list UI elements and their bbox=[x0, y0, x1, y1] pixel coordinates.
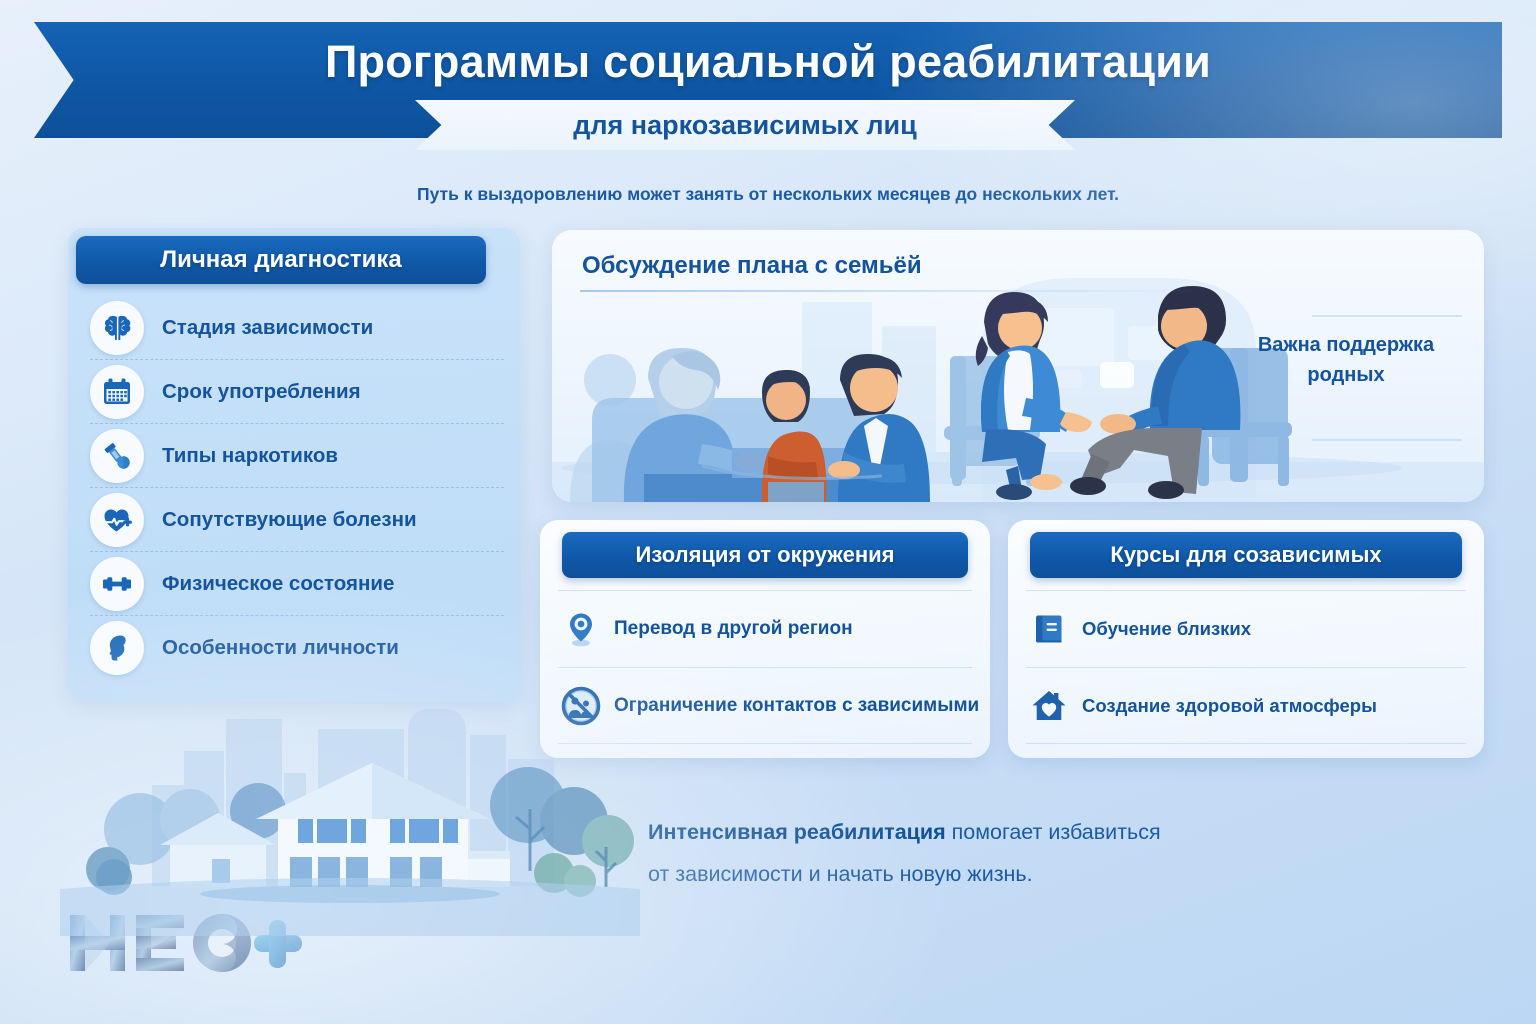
list-item[interactable]: Перевод в другой регион bbox=[558, 590, 972, 667]
diagnostics-list: Стадия зависимости bbox=[90, 296, 504, 692]
heart-plus-icon bbox=[90, 493, 144, 547]
page-subtitle: для наркозависимых лиц bbox=[573, 110, 916, 141]
isolation-header-chip: Изоляция от окружения bbox=[562, 532, 968, 578]
lede-text: Путь к выздоровлению может занять от нес… bbox=[0, 184, 1536, 205]
list-item[interactable]: Стадия зависимости bbox=[90, 296, 504, 360]
list-item-label: Типы наркотиков bbox=[162, 444, 338, 468]
list-item-label: Особенности личности bbox=[162, 636, 399, 660]
diagnostics-header-label: Личная диагностика bbox=[160, 246, 401, 274]
list-item-label: Стадия зависимости bbox=[162, 316, 373, 340]
page-title: Программы социальной реабилитации bbox=[34, 36, 1502, 88]
list-item-label: Перевод в другой регион bbox=[614, 618, 853, 640]
diagnostics-panel: Личная диагностика Стадия зависимости bbox=[68, 228, 520, 702]
closing-strong: Интенсивная реабилитация bbox=[648, 820, 946, 844]
list-item[interactable]: Особенности личности bbox=[90, 616, 504, 680]
brain-icon bbox=[90, 301, 144, 355]
dumbbell-icon bbox=[90, 557, 144, 611]
courses-list: Обучение близких Создание здоровой атмос… bbox=[1026, 590, 1466, 744]
courses-card: Курсы для созависимых Обучение близких bbox=[1008, 520, 1484, 758]
illustration-note: Важна поддержка родных bbox=[1236, 330, 1456, 390]
illustration-title: Обсуждение плана с семьёй bbox=[582, 252, 922, 280]
list-item-label: Сопутствующие болезни bbox=[162, 508, 417, 532]
isolation-header-label: Изоляция от окружения bbox=[636, 542, 895, 568]
list-item-label: Создание здоровой атмосферы bbox=[1082, 695, 1377, 717]
header-subribbon: для наркозависимых лиц bbox=[415, 100, 1075, 150]
list-item[interactable]: Срок употребления bbox=[90, 360, 504, 424]
calendar-icon bbox=[90, 365, 144, 419]
list-item[interactable]: Создание здоровой атмосферы bbox=[1026, 667, 1466, 744]
closing-rest: помогает избавиться bbox=[946, 820, 1161, 844]
list-item-label: Обучение близких bbox=[1082, 618, 1251, 640]
closing-statement: Интенсивная реабилитация помогает избави… bbox=[648, 812, 1368, 896]
home-heart-icon bbox=[1026, 683, 1072, 729]
list-item-label: Физическое состояние bbox=[162, 572, 394, 596]
courses-header-chip: Курсы для созависимых bbox=[1030, 532, 1462, 578]
infographic-poster: Программы социальной реабилитации для на… bbox=[0, 0, 1536, 1024]
list-item[interactable]: Сопутствующие болезни bbox=[90, 488, 504, 552]
syringe-icon bbox=[90, 429, 144, 483]
head-icon bbox=[90, 621, 144, 675]
location-pin-icon bbox=[558, 606, 604, 652]
book-icon bbox=[1026, 606, 1072, 652]
list-item-label: Срок употребления bbox=[162, 380, 361, 404]
closing-line-1: Интенсивная реабилитация помогает избави… bbox=[648, 812, 1368, 854]
courses-header-label: Курсы для созависимых bbox=[1110, 542, 1381, 568]
family-discussion-card: Обсуждение плана с семьёй Важна поддержк… bbox=[552, 230, 1484, 502]
neighborhood-illustration bbox=[60, 701, 640, 936]
list-item[interactable]: Типы наркотиков bbox=[90, 424, 504, 488]
diagnostics-header-chip: Личная диагностика bbox=[76, 236, 486, 284]
list-item[interactable]: Обучение близких bbox=[1026, 590, 1466, 667]
closing-line-2: от зависимости и начать новую жизнь. bbox=[648, 854, 1368, 896]
illustration-title-rule bbox=[580, 290, 1200, 292]
list-item[interactable]: Физическое состояние bbox=[90, 552, 504, 616]
list-item-label: Ограничение контактов с зависимыми bbox=[614, 695, 979, 717]
